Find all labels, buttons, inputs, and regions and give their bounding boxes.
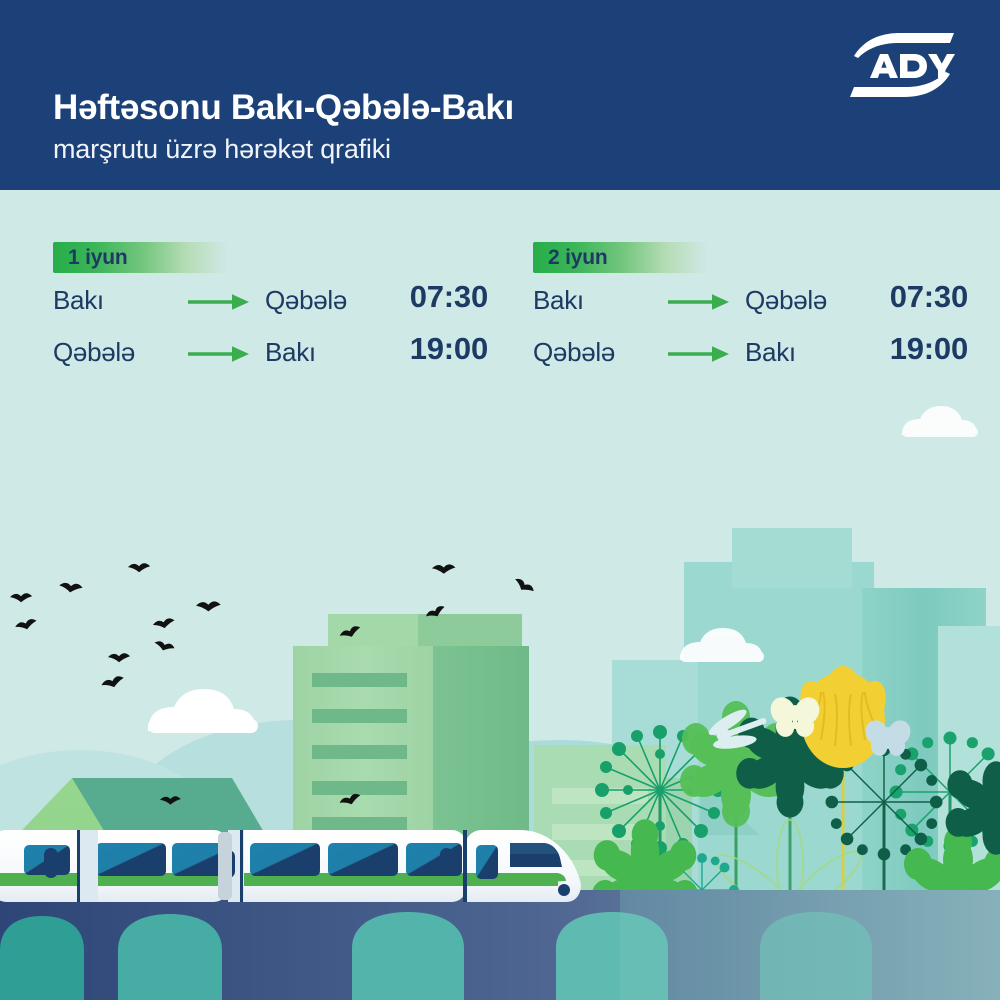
arrow-right-icon	[668, 292, 730, 312]
date-badge-label: 1 iyun	[53, 242, 228, 273]
arrow-right-icon	[188, 344, 250, 364]
page-subtitle: marşrutu üzrə hərəkət qrafiki	[53, 134, 514, 165]
route-origin: Bakı	[533, 285, 663, 316]
route-time: 07:30	[858, 279, 968, 315]
poster-root: Həftəsonu Bakı-Qəbələ-Bakı marşrutu üzrə…	[0, 0, 1000, 1000]
date-badge-1: 1 iyun	[53, 242, 228, 273]
ady-logo-letters	[870, 54, 955, 78]
route-row: Qəbələ Bakı 19:00	[53, 331, 473, 377]
route-destination: Qəbələ	[745, 285, 875, 316]
arrow-right-icon	[668, 344, 730, 364]
route-destination: Qəbələ	[265, 285, 395, 316]
train-car	[0, 830, 242, 902]
page-title: Həftəsonu Bakı-Qəbələ-Bakı	[53, 88, 514, 128]
route-origin: Bakı	[53, 285, 183, 316]
route-time: 19:00	[858, 331, 968, 367]
schedule-column-1: 1 iyun Bakı Qəbələ 07:30 Qəbələ Bakı 19:…	[53, 242, 473, 377]
date-badge-label: 2 iyun	[533, 242, 708, 273]
date-badge-2: 2 iyun	[533, 242, 708, 273]
route-row: Bakı Qəbələ 07:30	[533, 279, 953, 325]
route-origin: Qəbələ	[53, 337, 183, 368]
header-text-block: Həftəsonu Bakı-Qəbələ-Bakı marşrutu üzrə…	[53, 88, 514, 165]
header-bar: Həftəsonu Bakı-Qəbələ-Bakı marşrutu üzrə…	[0, 0, 1000, 190]
route-row: Bakı Qəbələ 07:30	[53, 279, 473, 325]
route-origin: Qəbələ	[533, 337, 663, 368]
route-destination: Bakı	[745, 337, 875, 368]
ady-logo[interactable]	[846, 29, 958, 101]
schedule-panel: 1 iyun Bakı Qəbələ 07:30 Qəbələ Bakı 19:…	[0, 190, 1000, 390]
train-car	[222, 830, 466, 902]
route-time: 07:30	[378, 279, 488, 315]
schedule-column-2: 2 iyun Bakı Qəbələ 07:30 Qəbələ Bakı 19:…	[533, 242, 953, 377]
route-time: 19:00	[378, 331, 488, 367]
route-destination: Bakı	[265, 337, 395, 368]
electric-train	[0, 830, 581, 902]
arrow-right-icon	[188, 292, 250, 312]
route-row: Qəbələ Bakı 19:00	[533, 331, 953, 377]
